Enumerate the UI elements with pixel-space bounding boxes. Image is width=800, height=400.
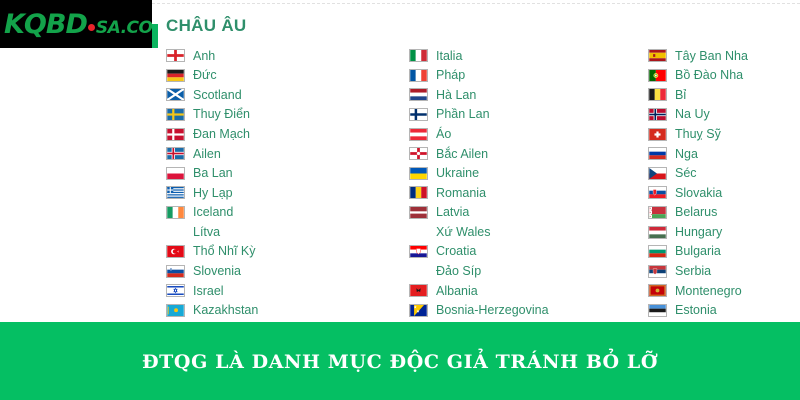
country-row[interactable]: Serbia [648, 262, 748, 282]
country-name: Phần Lan [436, 108, 490, 121]
country-name: Slovenia [193, 265, 241, 278]
country-row[interactable]: Kazakhstan [166, 301, 258, 321]
montenegro-flag-icon [648, 284, 667, 297]
country-name: Romania [436, 187, 486, 200]
country-column-1: AnhĐứcScotlandThuy ĐiểnĐan MạchAilenBa L… [166, 46, 258, 320]
country-name: Slovakia [675, 187, 722, 200]
albania-flag-icon [409, 284, 428, 297]
kazakhstan-flag-icon [166, 304, 185, 317]
country-row[interactable]: Ailen [166, 144, 258, 164]
country-list: AnhĐứcScotlandThuy ĐiểnĐan MạchAilenBa L… [0, 46, 800, 322]
country-name: Thuỵ Sỹ [675, 128, 721, 141]
logo-sub-text: SA.COM [96, 18, 152, 38]
hungary-flag-icon [648, 226, 667, 239]
country-name: Ailen [193, 148, 221, 161]
country-column-2: ItaliaPhápHà LanPhần LanÁoBắc AilenUkrai… [409, 46, 549, 320]
bosnia-flag-icon [409, 304, 428, 317]
country-name: Áo [436, 128, 451, 141]
country-row[interactable]: Thuy Điển [166, 105, 258, 125]
country-name: Xứ Wales [436, 226, 490, 239]
serbia-flag-icon [648, 265, 667, 278]
finland-flag-icon [409, 108, 428, 121]
slovenia-flag-icon [166, 265, 185, 278]
country-name: Bỉ [675, 89, 686, 102]
country-name: Đức [193, 69, 217, 82]
country-row[interactable]: Slovenia [166, 262, 258, 282]
page-title: CHÂU ÂU [166, 16, 246, 36]
country-name: Đảo Síp [436, 265, 481, 278]
country-row[interactable]: Hy Lạp [166, 183, 258, 203]
country-row[interactable]: Hà Lan [409, 85, 549, 105]
country-row[interactable]: Romania [409, 183, 549, 203]
country-row[interactable]: Anh [166, 46, 258, 66]
germany-flag-icon [166, 69, 185, 82]
estonia-flag-icon [648, 304, 667, 317]
northern-ireland-flag-icon [409, 147, 428, 160]
country-name: Belarus [675, 206, 717, 219]
country-row[interactable]: Lítva [166, 222, 258, 242]
israel-flag-icon [166, 284, 185, 297]
banner-headline: ĐTQG LÀ DANH MỤC ĐỘC GIẢ TRÁNH BỎ LỠ [0, 351, 800, 373]
country-row[interactable]: Israel [166, 281, 258, 301]
belarus-flag-icon [648, 206, 667, 219]
country-name: Hy Lạp [193, 187, 233, 200]
country-name: Nga [675, 148, 698, 161]
bottom-banner: ĐTQG LÀ DANH MỤC ĐỘC GIẢ TRÁNH BỎ LỠ [0, 322, 800, 400]
country-name: Ukraine [436, 167, 479, 180]
country-name: Albania [436, 285, 478, 298]
country-name: Lítva [193, 226, 220, 239]
country-row[interactable]: Bồ Đào Nha [648, 66, 748, 86]
country-row[interactable]: Pháp [409, 66, 549, 86]
country-row[interactable]: Iceland [166, 203, 258, 223]
country-name: Italia [436, 50, 462, 63]
country-row[interactable]: Scotland [166, 85, 258, 105]
no-flag-icon [409, 226, 428, 239]
country-row[interactable]: Na Uy [648, 105, 748, 125]
country-row[interactable]: Bắc Ailen [409, 144, 549, 164]
country-row[interactable]: Bỉ [648, 85, 748, 105]
latvia-flag-icon [409, 206, 428, 219]
poland-flag-icon [166, 167, 185, 180]
country-name: Hà Lan [436, 89, 476, 102]
country-name: Montenegro [675, 285, 742, 298]
country-name: Bồ Đào Nha [675, 69, 743, 82]
greece-flag-icon [166, 186, 185, 199]
slovakia-flag-icon [648, 186, 667, 199]
netherlands-flag-icon [409, 88, 428, 101]
country-row[interactable]: Italia [409, 46, 549, 66]
country-name: Bosnia-Herzegovina [436, 304, 549, 317]
site-logo[interactable]: KQBDSA.COM [0, 0, 152, 48]
country-name: Estonia [675, 304, 717, 317]
belgium-flag-icon [648, 88, 667, 101]
scotland-flag-icon [166, 88, 185, 101]
denmark-flag-icon [166, 128, 185, 141]
logo-wordmark: KQBDSA.COM [4, 9, 152, 40]
logo-green-edge [152, 24, 158, 48]
no-flag-icon [409, 265, 428, 278]
spain-flag-icon [648, 49, 667, 62]
country-name: Kazakhstan [193, 304, 258, 317]
country-row[interactable]: Bosnia-Herzegovina [409, 301, 549, 321]
sweden-flag-icon [166, 108, 185, 121]
country-row[interactable]: Bulgaria [648, 242, 748, 262]
france-flag-icon [409, 69, 428, 82]
country-row[interactable]: Thổ Nhĩ Kỳ [166, 242, 258, 262]
country-name: Latvia [436, 206, 469, 219]
country-row[interactable]: Tây Ban Nha [648, 46, 748, 66]
ireland-flag-icon [166, 206, 185, 219]
austria-flag-icon [409, 128, 428, 141]
country-row[interactable]: Montenegro [648, 281, 748, 301]
country-name: Israel [193, 285, 224, 298]
country-row[interactable]: Séc [648, 164, 748, 184]
country-name: Croatia [436, 245, 476, 258]
england-flag-icon [166, 49, 185, 62]
logo-main-text: KQBD [4, 9, 87, 40]
switzerland-flag-icon [648, 128, 667, 141]
country-row[interactable]: Croatia [409, 242, 549, 262]
country-name: Tây Ban Nha [675, 50, 748, 63]
country-row[interactable]: Ukraine [409, 164, 549, 184]
country-row[interactable]: Ba Lan [166, 164, 258, 184]
czech-flag-icon [648, 167, 667, 180]
country-name: Na Uy [675, 108, 710, 121]
country-name: Bắc Ailen [436, 148, 488, 161]
italy-flag-icon [409, 49, 428, 62]
iceland-flag-icon [166, 147, 185, 160]
country-row[interactable]: Belarus [648, 203, 748, 223]
romania-flag-icon [409, 186, 428, 199]
country-row[interactable]: Thuỵ Sỹ [648, 124, 748, 144]
country-name: Thổ Nhĩ Kỳ [193, 245, 256, 258]
logo-dot-icon [88, 24, 95, 31]
norway-flag-icon [648, 108, 667, 121]
bulgaria-flag-icon [648, 245, 667, 258]
country-name: Iceland [193, 206, 233, 219]
country-row[interactable]: Estonia [648, 301, 748, 321]
country-row[interactable]: Đan Mạch [166, 124, 258, 144]
turkey-flag-icon [166, 245, 185, 258]
country-row[interactable]: Đức [166, 66, 258, 86]
country-name: Serbia [675, 265, 711, 278]
country-name: Đan Mạch [193, 128, 250, 141]
portugal-flag-icon [648, 69, 667, 82]
country-name: Anh [193, 50, 215, 63]
country-row[interactable]: Hungary [648, 222, 748, 242]
ukraine-flag-icon [409, 167, 428, 180]
top-divider [152, 3, 800, 5]
country-name: Bulgaria [675, 245, 721, 258]
russia-flag-icon [648, 147, 667, 160]
country-row[interactable]: Áo [409, 124, 549, 144]
country-name: Thuy Điển [193, 108, 250, 121]
country-name: Scotland [193, 89, 242, 102]
country-name: Séc [675, 167, 697, 180]
page-root: KQBDSA.COM CHÂU ÂU AnhĐứcScotlandThuy Đi… [0, 0, 800, 400]
country-row[interactable]: Slovakia [648, 183, 748, 203]
country-row[interactable]: Phần Lan [409, 105, 549, 125]
country-name: Pháp [436, 69, 465, 82]
country-row[interactable]: Đảo Síp [409, 262, 549, 282]
country-row[interactable]: Albania [409, 281, 549, 301]
country-column-3: Tây Ban NhaBồ Đào NhaBỉNa UyThuỵ SỹNgaSé… [648, 46, 748, 320]
country-row[interactable]: Nga [648, 144, 748, 164]
croatia-flag-icon [409, 245, 428, 258]
no-flag-icon [166, 226, 185, 239]
country-name: Ba Lan [193, 167, 233, 180]
country-row[interactable]: Xứ Wales [409, 222, 549, 242]
country-row[interactable]: Latvia [409, 203, 549, 223]
country-name: Hungary [675, 226, 722, 239]
